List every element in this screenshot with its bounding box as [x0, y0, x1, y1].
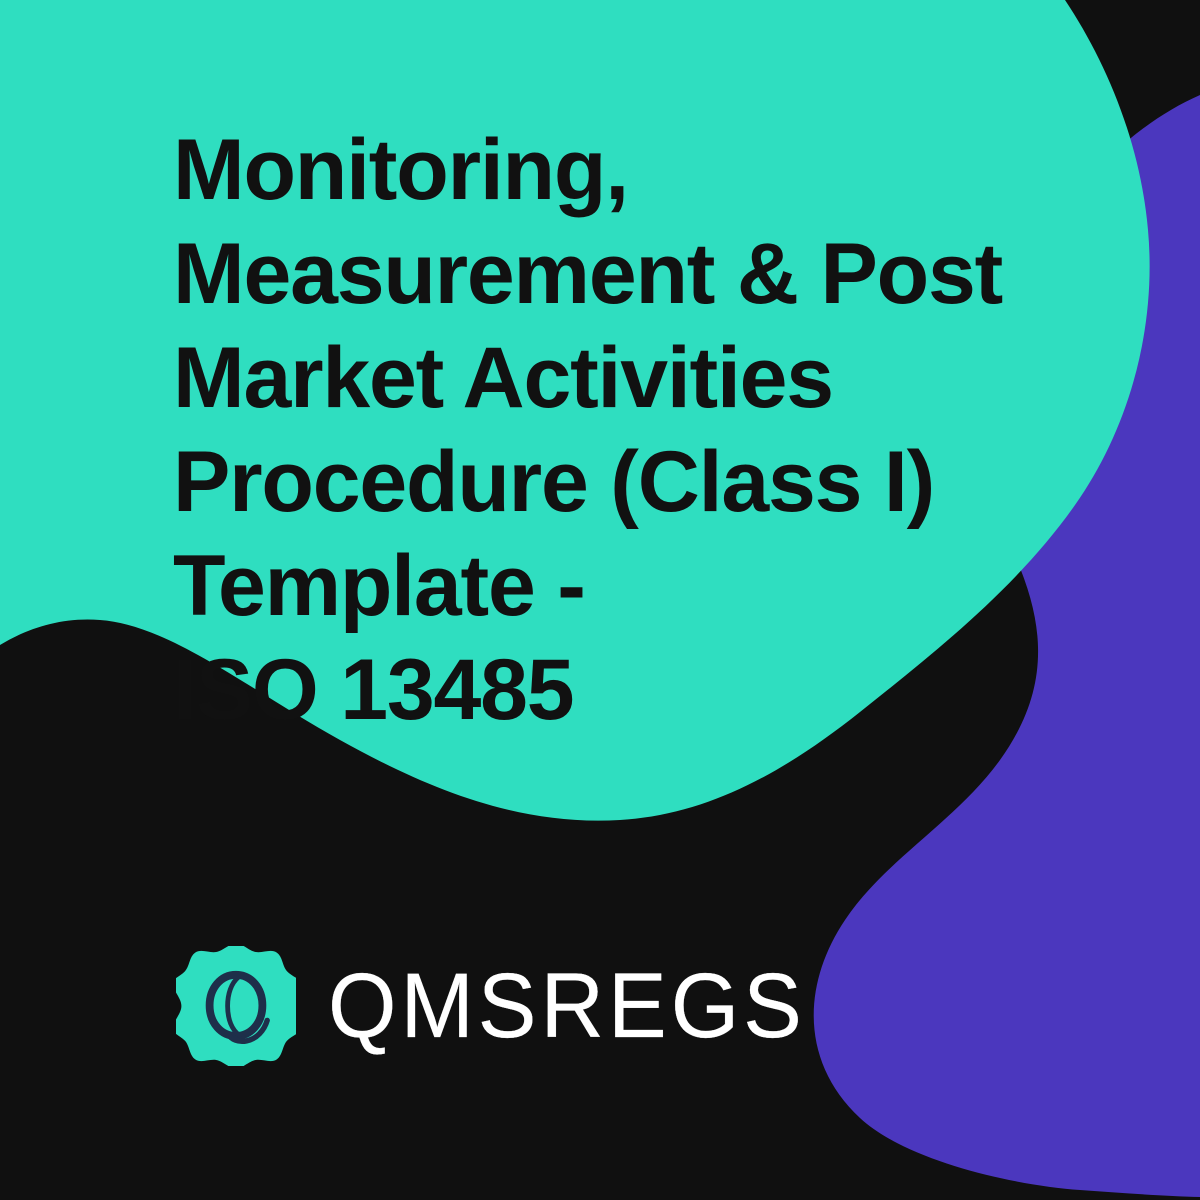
seal-scallop-shape — [176, 946, 296, 1066]
brand-wordmark: QMSREGS — [328, 960, 806, 1052]
title-line-5: Template - — [173, 534, 1033, 638]
page-title: Monitoring, Measurement & Post Market Ac… — [173, 118, 1033, 742]
title-line-1: Monitoring, — [173, 118, 1033, 222]
qmsregs-seal-icon — [176, 946, 296, 1066]
document-cover: Monitoring, Measurement & Post Market Ac… — [0, 0, 1200, 1200]
brand-logo-lockup: QMSREGS — [176, 946, 806, 1066]
title-line-2: Measurement & Post — [173, 222, 1033, 326]
title-line-4: Procedure (Class I) — [173, 430, 1033, 534]
title-line-3: Market Activities — [173, 326, 1033, 430]
title-line-6: ISO 13485 — [173, 638, 1033, 742]
